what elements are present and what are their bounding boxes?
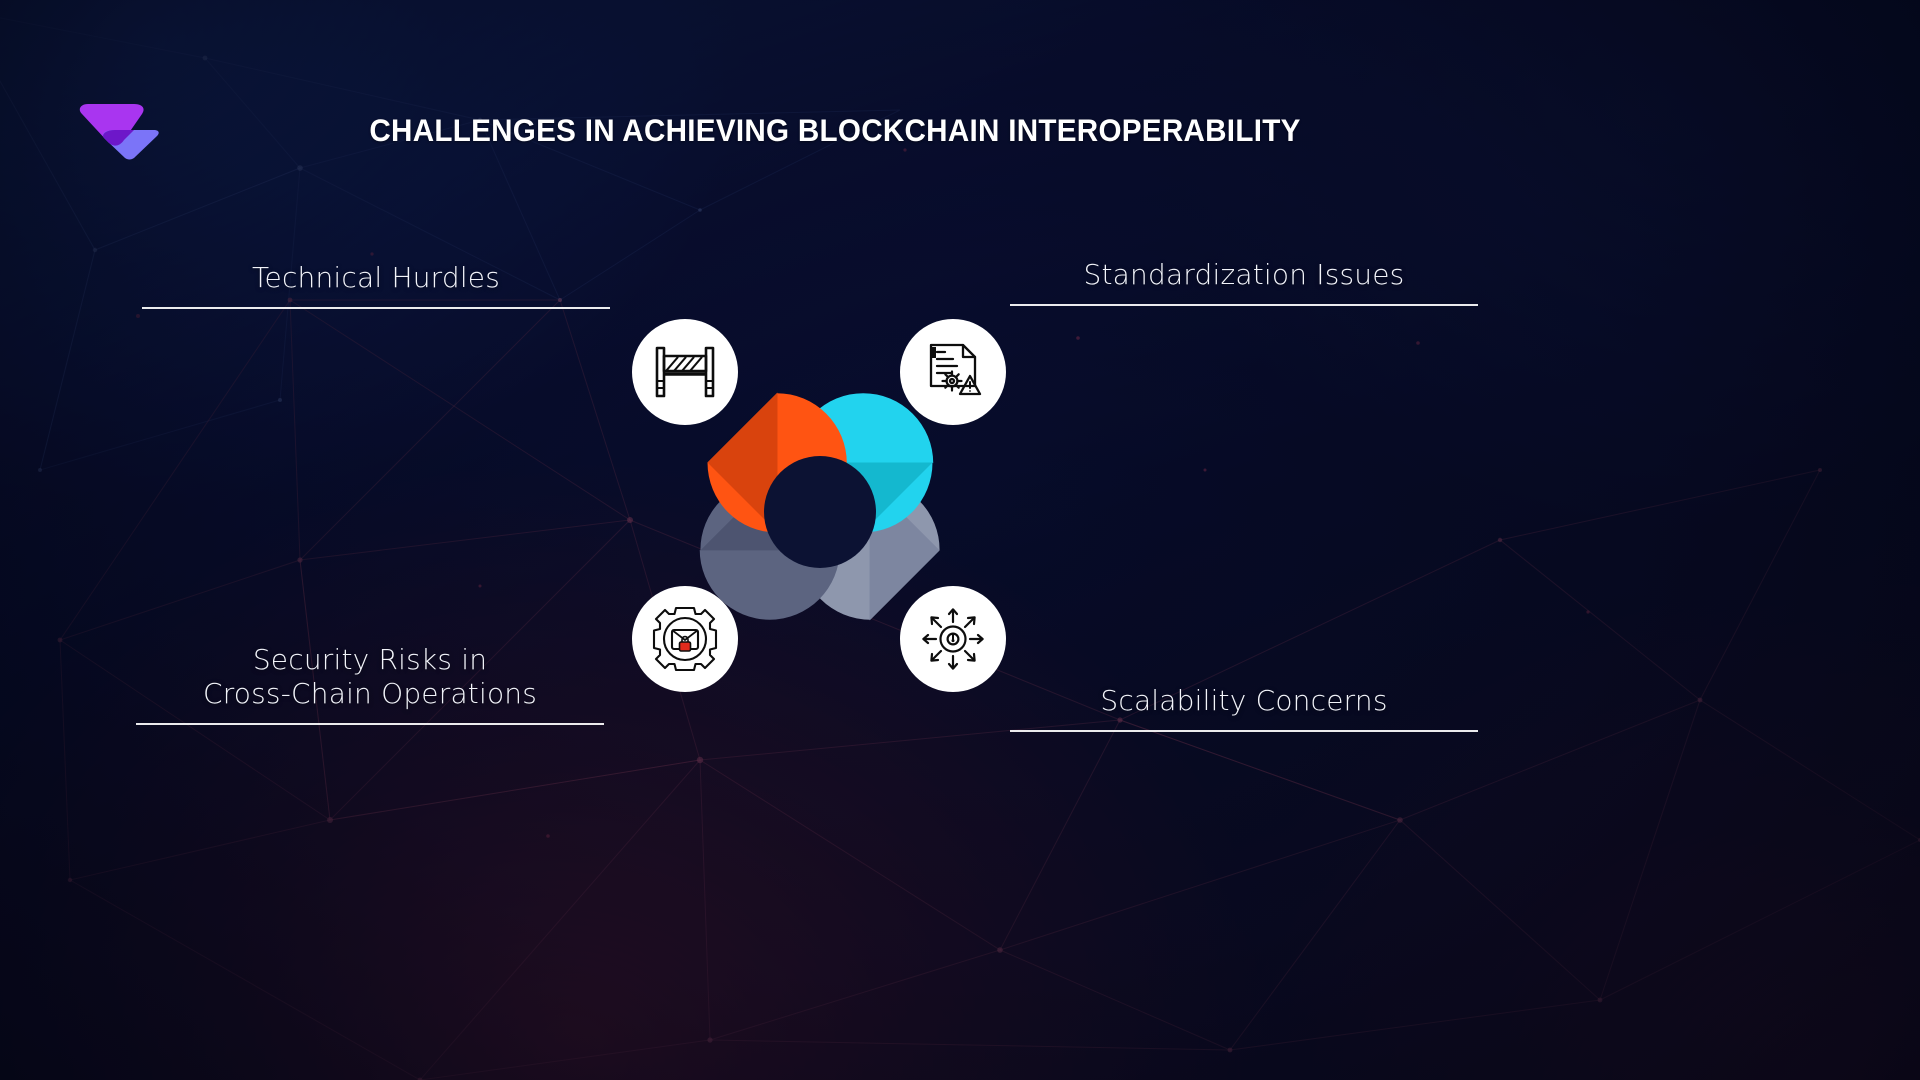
page-title: CHALLENGES IN ACHIEVING BLOCKCHAIN INTER… [50,112,1620,149]
label-underline [142,307,610,309]
label-text: Scalability Concerns [1100,684,1387,717]
scalability-arrows-icon [923,609,982,668]
label-text: Standardization Issues [1084,258,1405,291]
label-text-line-2: Cross-Chain Operations [203,677,537,710]
label-standardization-issues: Standardization Issues [1010,258,1478,306]
label-text-line-1: Security Risks in [253,643,487,676]
interlocking-pins-diagram [600,295,1040,715]
label-underline [1010,304,1478,306]
center-knot [764,456,876,568]
label-text: Technical Hurdles [252,261,500,294]
label-security-risks: Security Risks in Cross-Chain Operations [136,643,604,725]
label-underline [136,723,604,725]
label-scalability-concerns: Scalability Concerns [1010,684,1478,732]
label-technical-hurdles: Technical Hurdles [142,261,610,309]
label-underline [1010,730,1478,732]
